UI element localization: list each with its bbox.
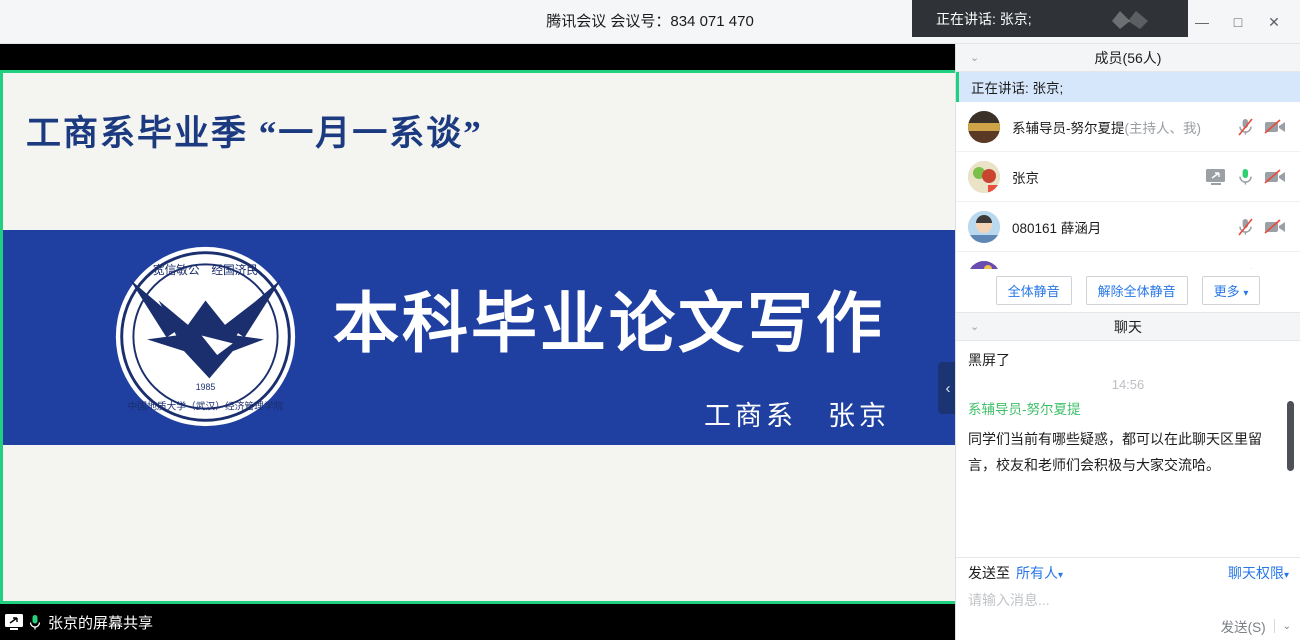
microphone-active-icon[interactable] bbox=[1237, 167, 1254, 187]
slide-byline: 工商系 张京 bbox=[704, 394, 890, 433]
slide-heading: 工商系毕业季 “一月一系谈” bbox=[26, 105, 483, 156]
chat-permission-dropdown[interactable]: 聊天权限▾ bbox=[1228, 563, 1289, 583]
avatar bbox=[968, 111, 1000, 143]
composer-toolbar: 发送至 所有人▾ 聊天权限▾ bbox=[956, 558, 1300, 588]
participant-name-text: 系辅导员-努尔夏提 bbox=[1012, 121, 1125, 136]
camera-off-icon[interactable] bbox=[1264, 219, 1286, 235]
participant-name: 张京 bbox=[1012, 167, 1205, 187]
participant-name-text: 张京 bbox=[1012, 171, 1039, 186]
share-status-bar: 张京的屏幕共享 bbox=[0, 604, 955, 640]
chat-timestamp: 14:56 bbox=[956, 373, 1300, 398]
share-status-label: 张京的屏幕共享 bbox=[48, 612, 153, 633]
slide-title: 本科毕业论文写作 bbox=[333, 270, 885, 366]
participant-status-icons bbox=[1237, 267, 1286, 270]
avatar bbox=[968, 211, 1000, 243]
shared-screen-stage: 工商系毕业季 “一月一系谈” 宽信敏公 经国济民 中国地质大学（ bbox=[0, 44, 955, 640]
divider bbox=[1274, 619, 1275, 633]
tencent-meeting-window: 腾讯会议 会议号：834 071 470 正在讲话: 张京; — □ ✕ 工商系… bbox=[0, 0, 1300, 640]
emblem-org: 中国地质大学（武汉）经济管理学院 bbox=[128, 400, 284, 413]
microphone-muted-icon[interactable] bbox=[1237, 267, 1254, 270]
microphone-muted-icon[interactable] bbox=[1237, 217, 1254, 237]
emblem-year: 1985 bbox=[196, 382, 216, 392]
chevron-down-icon[interactable]: ⌄ bbox=[970, 51, 979, 64]
participant-name: 系辅导员-努尔夏提(主持人、我) bbox=[1012, 117, 1237, 137]
chat-message-list[interactable]: 黑屏了 14:56 系辅导员-努尔夏提 同学们当前有哪些疑惑，都可以在此聊天区里… bbox=[956, 341, 1300, 514]
participant-status-icons bbox=[1205, 167, 1286, 187]
send-to-label: 发送至 bbox=[968, 563, 1010, 583]
microphone-active-icon bbox=[28, 613, 42, 631]
chat-input[interactable]: 请输入消息... bbox=[956, 588, 1300, 612]
chat-header-label: 聊天 bbox=[1114, 317, 1142, 337]
presentation-slide: 工商系毕业季 “一月一系谈” 宽信敏公 经国济民 中国地质大学（ bbox=[3, 73, 955, 601]
participant-row-4[interactable]: 080161 杨熙琳 bbox=[956, 252, 1300, 269]
participants-section-header[interactable]: ⌄ 成员(56人) bbox=[956, 44, 1300, 72]
chat-message: 黑屏了 bbox=[956, 341, 1300, 373]
more-button[interactable]: 更多 ▾ bbox=[1202, 276, 1261, 305]
mute-all-button[interactable]: 全体静音 bbox=[996, 276, 1072, 305]
maximize-button[interactable]: □ bbox=[1220, 8, 1256, 36]
participant-row-host[interactable]: 系辅导员-努尔夏提(主持人、我) bbox=[956, 102, 1300, 152]
chat-composer: 发送至 所有人▾ 聊天权限▾ 请输入消息... 发送(S) ⌄ bbox=[956, 557, 1300, 640]
participant-name: 080161 薛涵月 bbox=[1012, 217, 1237, 237]
participant-row-3[interactable]: 080161 薛涵月 bbox=[956, 202, 1300, 252]
tencent-meeting-logo-icon bbox=[1110, 8, 1168, 30]
window-controls: — □ ✕ bbox=[1184, 8, 1292, 36]
shared-content-frame: 工商系毕业季 “一月一系谈” 宽信敏公 经国济民 中国地质大学（ bbox=[0, 70, 955, 604]
speaking-overlay-chip: 正在讲话: 张京; bbox=[912, 0, 1188, 37]
chevron-down-icon: ▾ bbox=[1243, 288, 1248, 299]
slide-title-band: 宽信敏公 经国济民 中国地质大学（武汉）经济管理学院 1985 本科毕业论文写作… bbox=[3, 230, 955, 445]
chat-scrollbar[interactable] bbox=[1290, 341, 1297, 514]
avatar bbox=[968, 161, 1000, 193]
participant-status-icons bbox=[1237, 217, 1286, 237]
participant-actions: 全体静音 解除全体静音 更多 ▾ bbox=[956, 269, 1300, 313]
chat-scrollbar-thumb[interactable] bbox=[1287, 401, 1294, 471]
participant-list[interactable]: 系辅导员-努尔夏提(主持人、我) bbox=[956, 102, 1300, 269]
chevron-down-icon[interactable]: ⌄ bbox=[1283, 621, 1291, 632]
university-emblem-icon: 宽信敏公 经国济民 中国地质大学（武汉）经济管理学院 1985 bbox=[108, 242, 303, 432]
emblem-motto: 宽信敏公 经国济民 bbox=[153, 263, 258, 277]
speaking-overlay-text: 正在讲话: 张京; bbox=[936, 9, 1032, 29]
chevron-down-icon: ▾ bbox=[1058, 570, 1063, 581]
minimize-button[interactable]: — bbox=[1184, 8, 1220, 36]
send-controls: 发送(S) ⌄ bbox=[1221, 616, 1291, 636]
speaking-banner: 正在讲话: 张京; bbox=[956, 72, 1300, 102]
participant-status-icons bbox=[1237, 117, 1286, 137]
chevron-down-icon: ▾ bbox=[1284, 570, 1289, 581]
title-bar: 腾讯会议 会议号：834 071 470 正在讲话: 张京; — □ ✕ bbox=[0, 0, 1300, 44]
send-button[interactable]: 发送(S) bbox=[1221, 616, 1266, 636]
avatar bbox=[968, 261, 1000, 270]
chat-message: 同学们当前有哪些疑惑，都可以在此聊天区里留言，校友和老师们会积极与大家交流哈。 bbox=[956, 420, 1300, 478]
microphone-muted-icon[interactable] bbox=[1237, 117, 1254, 137]
camera-off-icon[interactable] bbox=[1264, 119, 1286, 135]
participant-name-text: 080161 薛涵月 bbox=[1012, 221, 1101, 236]
participant-name: 080161 杨熙琳 bbox=[1012, 267, 1237, 270]
chat-section-header[interactable]: ⌄ 聊天 bbox=[956, 313, 1300, 341]
participant-row-sharer[interactable]: 张京 bbox=[956, 152, 1300, 202]
screen-share-icon bbox=[4, 613, 24, 631]
chevron-down-icon[interactable]: ⌄ bbox=[970, 320, 979, 333]
university-logo: 宽信敏公 经国济民 中国地质大学（武汉）经济管理学院 1985 bbox=[108, 242, 303, 432]
participant-role-tag: (主持人、我) bbox=[1125, 121, 1202, 136]
camera-off-icon[interactable] bbox=[1264, 269, 1286, 270]
participants-count-label: 成员(56人) bbox=[1095, 48, 1162, 68]
chat-sender-name: 系辅导员-努尔夏提 bbox=[956, 398, 1300, 420]
camera-off-icon[interactable] bbox=[1264, 169, 1286, 185]
screen-share-icon[interactable] bbox=[1205, 168, 1227, 186]
close-button[interactable]: ✕ bbox=[1256, 8, 1292, 36]
unmute-all-button[interactable]: 解除全体静音 bbox=[1086, 276, 1188, 305]
side-panel: ⌄ 成员(56人) 正在讲话: 张京; 系辅导员-努尔夏提(主持人、我) bbox=[955, 44, 1300, 640]
send-to-dropdown[interactable]: 所有人▾ bbox=[1016, 563, 1063, 583]
